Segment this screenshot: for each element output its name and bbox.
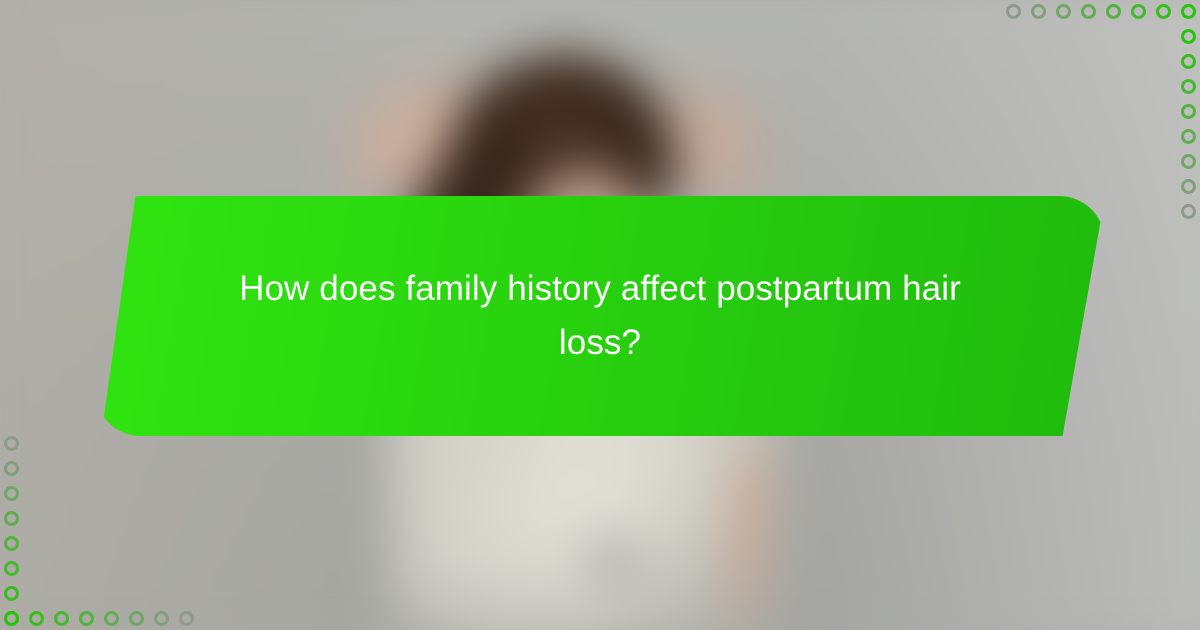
ornament-dot	[4, 611, 19, 626]
ornament-dot	[29, 611, 44, 626]
ornament-dot	[1181, 29, 1196, 44]
ornament-dot	[129, 611, 144, 626]
ornament-dot	[1056, 4, 1071, 19]
backdrop-garment-shadow	[574, 527, 648, 591]
quote-card-canvas: How does family history affect postpartu…	[0, 0, 1200, 630]
ornament-dot	[1031, 4, 1046, 19]
ornament-dot	[4, 486, 19, 501]
ornament-dot	[79, 611, 94, 626]
ornament-dot	[179, 611, 194, 626]
quote-card: How does family history affect postpartu…	[95, 196, 1105, 436]
ornament-dot	[4, 561, 19, 576]
ornament-dot	[1081, 4, 1096, 19]
ornament-dot	[1181, 179, 1196, 194]
quote-headline: How does family history affect postpartu…	[95, 196, 1105, 436]
ornament-dot	[4, 536, 19, 551]
ornament-dot	[1131, 4, 1146, 19]
ornament-dot	[1106, 4, 1121, 19]
ornament-dot	[4, 586, 19, 601]
ornament-dot	[1181, 54, 1196, 69]
ornament-dot	[4, 436, 19, 451]
ornament-dot	[4, 511, 19, 526]
ornament-dot	[1181, 79, 1196, 94]
ornament-dot	[1181, 204, 1196, 219]
ornament-dot	[1181, 154, 1196, 169]
ornament-dot	[1156, 4, 1171, 19]
ornament-dot	[1181, 4, 1196, 19]
ornament-dot	[104, 611, 119, 626]
ornament-dot	[1181, 104, 1196, 119]
ornament-dot	[1006, 4, 1021, 19]
ornament-dot	[154, 611, 169, 626]
ornament-dot	[4, 461, 19, 476]
ornament-dot	[1181, 129, 1196, 144]
ornament-dot	[54, 611, 69, 626]
